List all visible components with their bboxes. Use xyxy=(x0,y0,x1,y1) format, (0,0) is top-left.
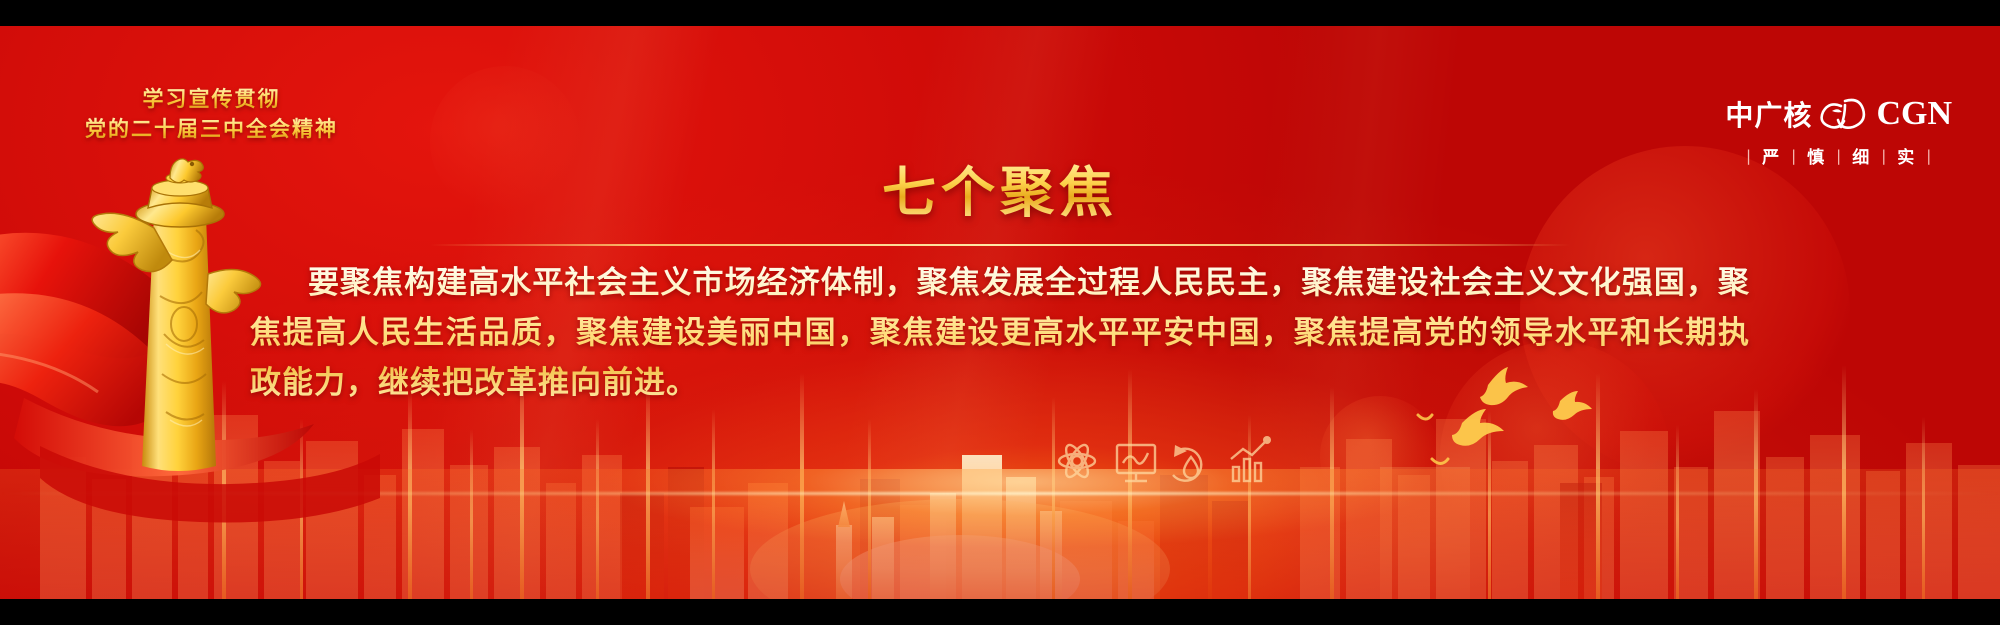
tagline-separator-3: | xyxy=(1870,147,1897,165)
tagline-separator-2: | xyxy=(1825,147,1852,165)
cgn-logo-main: 中广核 CGN xyxy=(1725,94,1952,134)
campaign-slogan: 学习宣传贯彻 党的二十届三中全会精神 xyxy=(85,84,338,144)
letterbox-bottom xyxy=(0,599,2000,625)
tagline-char-2: 细 xyxy=(1852,143,1870,168)
banner-stage: 学习宣传贯彻 党的二十届三中全会精神 七个聚焦 要聚焦构建高水平社会主义市场经济… xyxy=(0,26,2000,599)
tagline-separator-0: | xyxy=(1735,147,1762,165)
dove-icon xyxy=(1452,409,1504,446)
slogan-line-2: 党的二十届三中全会精神 xyxy=(85,114,338,144)
recycle-water-icon xyxy=(1173,445,1201,481)
cgn-logo-chinese: 中广核 xyxy=(1725,94,1812,134)
banner-body-paragraph: 要聚焦构建高水平社会主义市场经济体制，聚焦发展全过程人民民主，聚焦建设社会主义文… xyxy=(250,258,1750,408)
letterbox-top xyxy=(0,0,2000,26)
banner-title-text: 七个聚焦 xyxy=(882,148,1118,227)
atom-icon xyxy=(1059,442,1095,480)
slogan-line-1: 学习宣传贯彻 xyxy=(85,84,338,114)
dove-icon xyxy=(1432,459,1448,464)
tagline-separator-1: | xyxy=(1780,147,1807,165)
growth-chart-icon xyxy=(1231,436,1271,481)
propaganda-banner: 学习宣传贯彻 党的二十届三中全会精神 七个聚焦 要聚焦构建高水平社会主义市场经济… xyxy=(0,0,2000,625)
cgn-logo: 中广核 CGN | 严 | 慎 xyxy=(1725,94,1952,168)
dove-icon xyxy=(1418,415,1432,419)
tagline-separator-4: | xyxy=(1915,147,1942,165)
tagline-char-0: 严 xyxy=(1762,143,1780,168)
sector-icon-row xyxy=(1055,429,1285,489)
cgn-logo-english: CGN xyxy=(1876,95,1952,133)
cgn-tagline: | 严 | 慎 | 细 | 实 | xyxy=(1735,143,1942,168)
tagline-char-3: 实 xyxy=(1897,143,1915,168)
cgn-swoosh-icon xyxy=(1819,97,1871,131)
banner-title: 七个聚焦 xyxy=(0,148,2000,227)
monitor-icon xyxy=(1117,445,1155,481)
gold-divider xyxy=(430,244,1570,246)
banner-body: 要聚焦构建高水平社会主义市场经济体制，聚焦发展全过程人民民主，聚焦建设社会主义文… xyxy=(250,258,1750,408)
tagline-char-1: 慎 xyxy=(1807,143,1825,168)
